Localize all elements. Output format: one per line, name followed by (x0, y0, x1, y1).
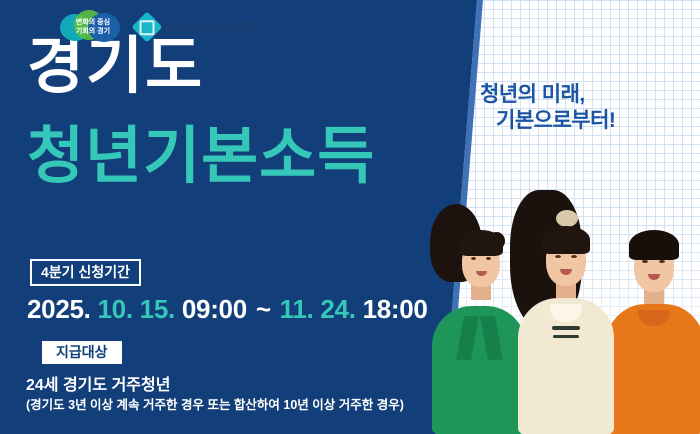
collar-stripe-2 (553, 335, 579, 338)
person-orange-sweater-man (606, 204, 700, 434)
mouth (560, 269, 572, 275)
people-photo-group (430, 186, 700, 434)
target-audience-badge: 지급대상 (42, 341, 122, 364)
eye-left (471, 257, 476, 260)
eye-left (555, 255, 561, 258)
foundation-logo: 경기도미래세대재단 (136, 16, 261, 38)
eye-right (659, 260, 665, 263)
promotional-banner: 경기도 청년기본소득 4분기 신청기간 2025. 10. 15. 09:00 … (0, 0, 700, 434)
diamond-logo-icon (131, 11, 162, 42)
logo-row: 변화의 중심 기회의 경기 경기도미래세대재단 (60, 7, 261, 47)
logo-slogan: 변화의 중심 기회의 경기 (66, 18, 120, 38)
application-period-badge: 4분기 신청기간 (30, 259, 141, 286)
period-start-time: 09:00 (182, 294, 247, 324)
hair-top (629, 230, 679, 260)
hair-top (542, 226, 590, 254)
foundation-name: 경기도미래세대재단 (164, 19, 261, 36)
logo-slogan-line2: 기회의 경기 (66, 27, 120, 36)
application-period-text: 2025. 10. 15. 09:00 ~ 11. 24. 18:00 (27, 296, 428, 322)
eye-right (571, 255, 577, 258)
period-year: 2025. (27, 294, 91, 324)
collar-stripe-1 (552, 326, 580, 330)
period-end-date: 11. 24. (280, 294, 356, 324)
gyeonggi-province-logo: 변화의 중심 기회의 경기 (60, 10, 122, 44)
period-separator: ~ (254, 294, 273, 324)
page-title-line2: 청년기본소득 (27, 126, 375, 188)
mouth (648, 274, 660, 280)
logo-slogan-line1: 변화의 중심 (66, 18, 120, 27)
left-content: 경기도 청년기본소득 4분기 신청기간 2025. 10. 15. 09:00 … (0, 0, 440, 434)
headline-line1: 청년의 미래, (480, 82, 615, 108)
mouth (476, 271, 487, 276)
hair-top (459, 230, 503, 256)
headline-line2: 기본으로부터! (496, 108, 615, 134)
hair-topknot (556, 210, 578, 227)
right-headline: 청년의 미래, 기본으로부터! (480, 82, 615, 133)
eye-right (486, 257, 491, 260)
period-end-time: 18:00 (363, 294, 428, 324)
period-start-date: 10. 15. (98, 294, 175, 324)
eye-left (642, 260, 648, 263)
target-audience-main: 24세 경기도 거주청년 (26, 378, 170, 394)
target-audience-note: (경기도 3년 이상 계속 거주한 경우 또는 합산하여 10년 이상 거주한 … (26, 399, 404, 412)
person-cream-sweater-woman (510, 190, 620, 434)
